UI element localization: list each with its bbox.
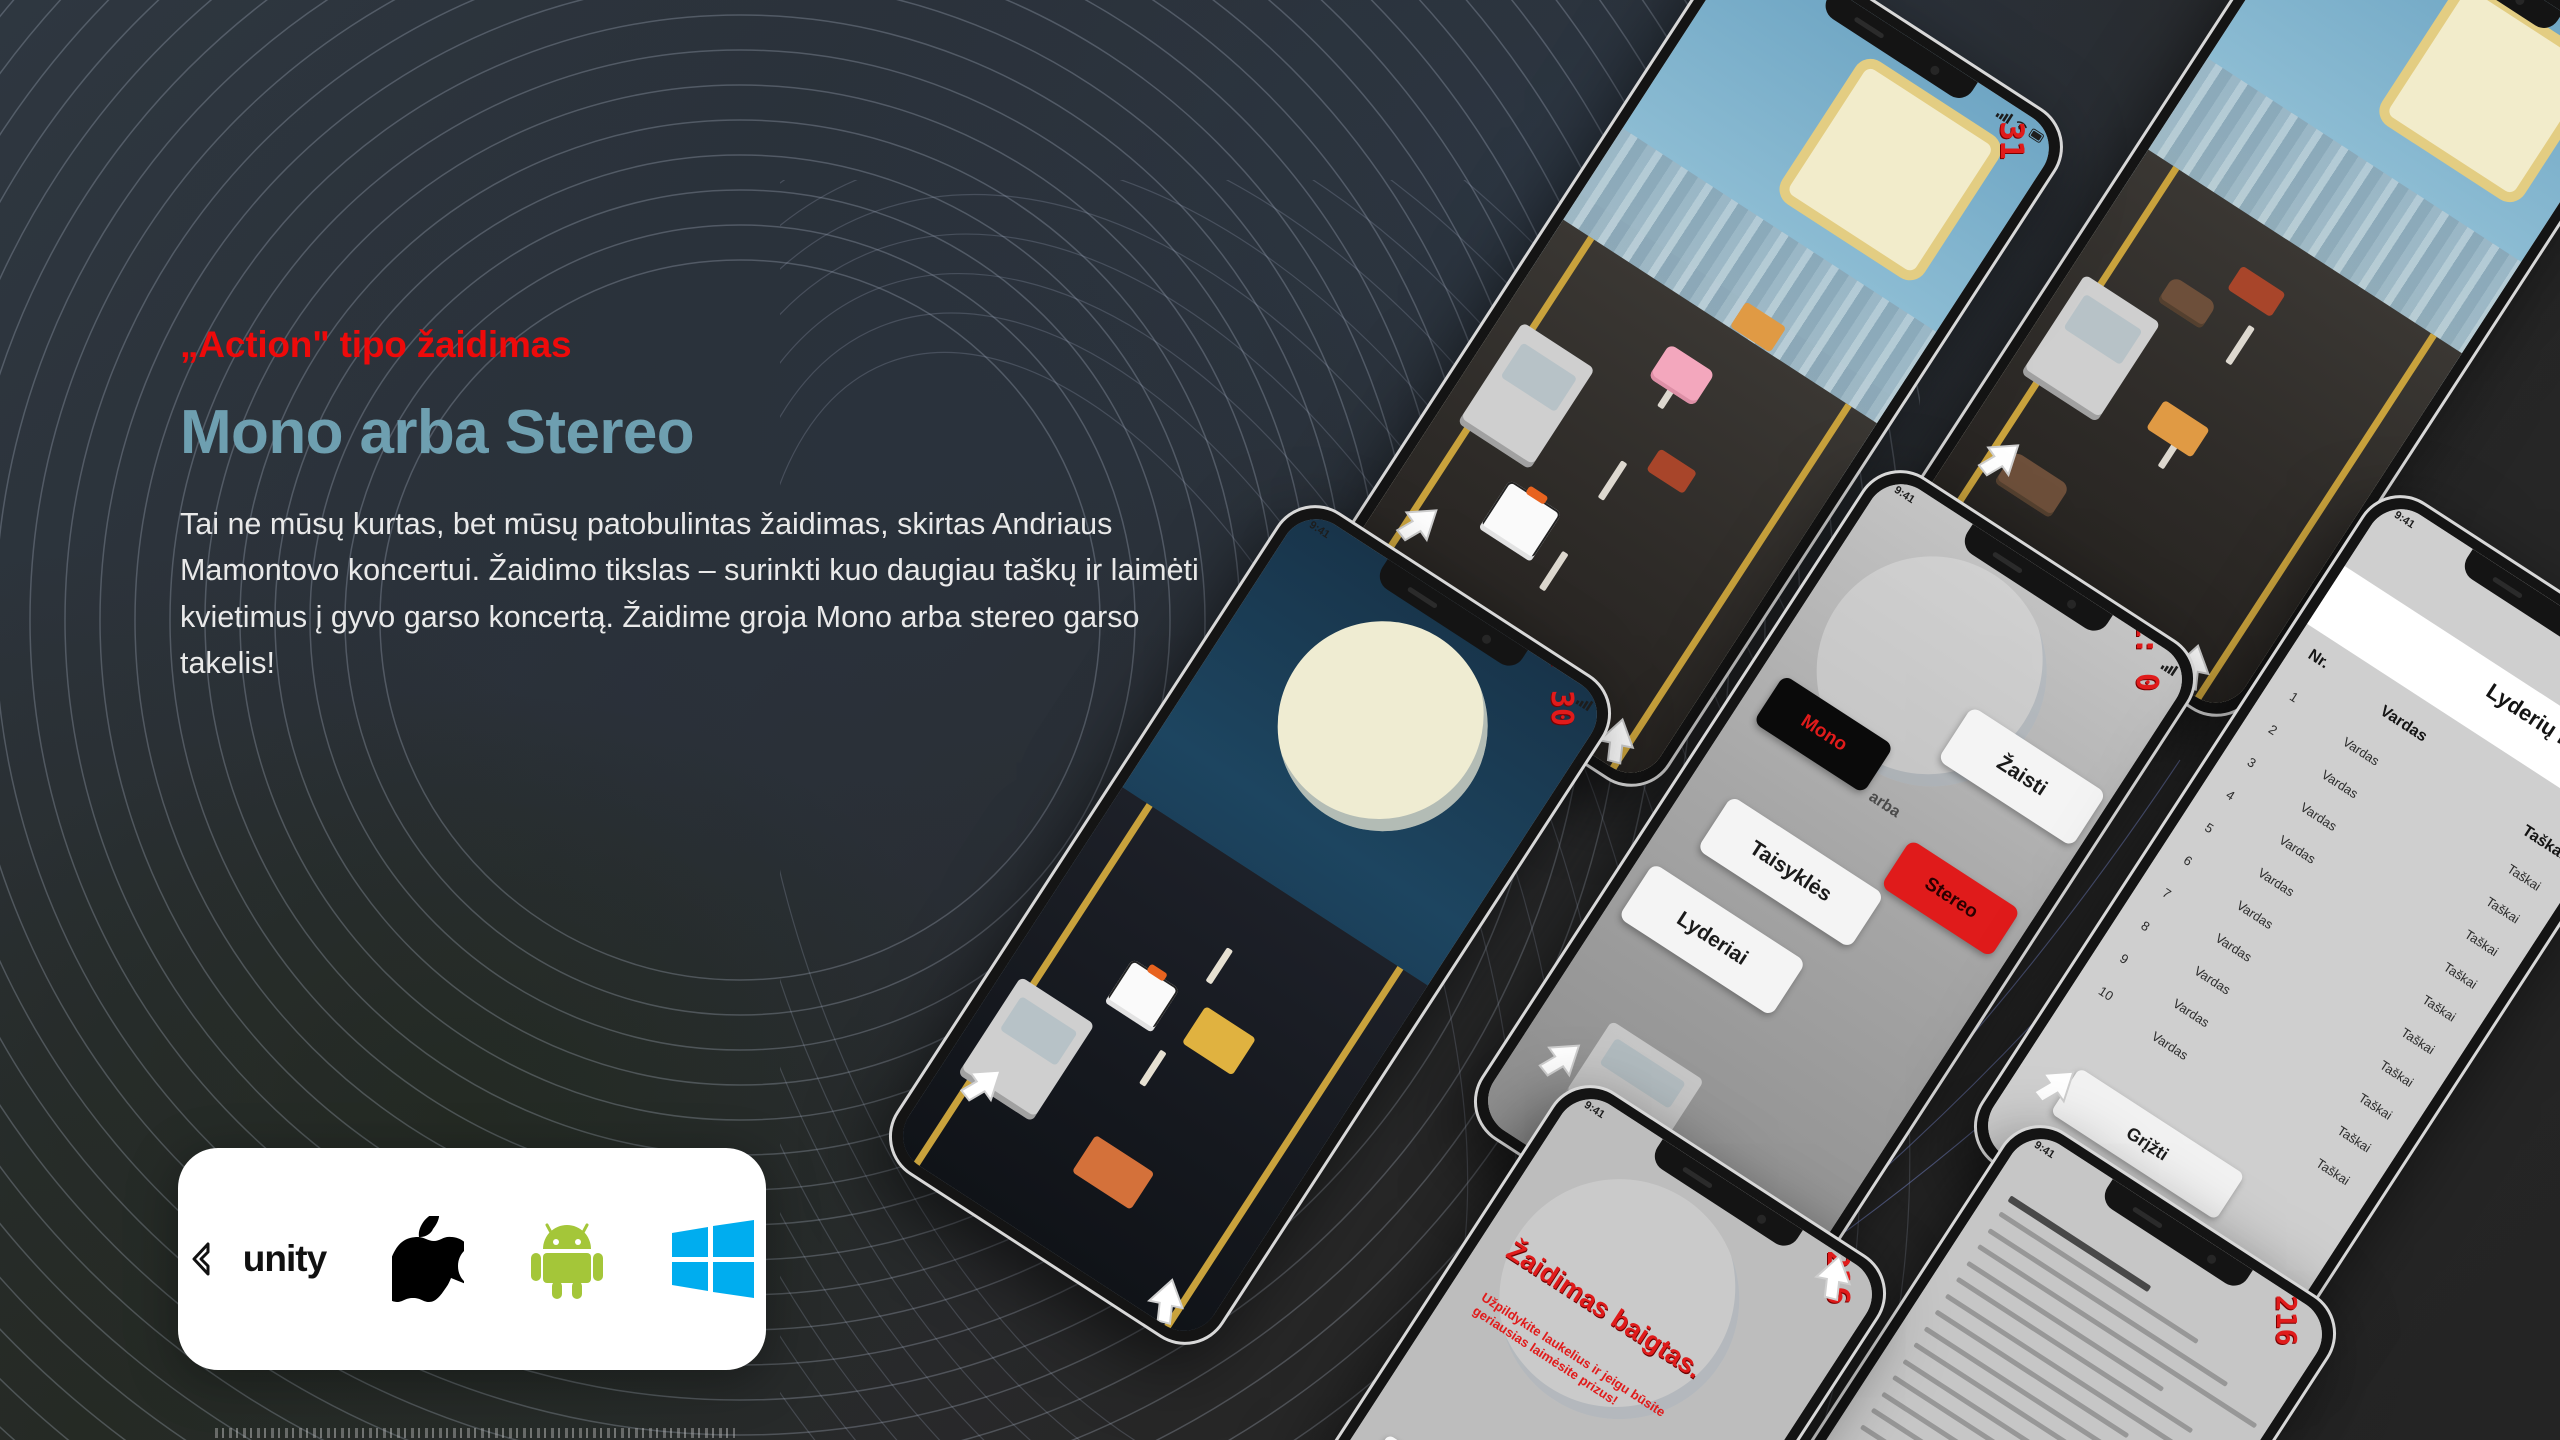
hero-copy-block: „Action" tipo žaidimas Mono arba Stereo …: [180, 325, 1240, 686]
leaderboard-row-nr: 8: [2139, 918, 2153, 935]
leaderboard-row-nr: 2: [2266, 721, 2280, 738]
leaderboard-row-score: Taškai: [2462, 926, 2501, 959]
leaderboard-row-name: Vardas: [2192, 963, 2234, 997]
eyebrow-text: „Action" tipo žaidimas: [180, 325, 1240, 366]
android-icon: [530, 1219, 604, 1299]
mono-label: Mono: [1796, 711, 1850, 757]
play-button-label: Žaisti: [1992, 751, 2051, 801]
leaderboard-row-score: Taškai: [2505, 861, 2544, 894]
leaderboard-row-name: Vardas: [2319, 767, 2361, 801]
leaderboard-row-name: Vardas: [2340, 734, 2382, 768]
leaderboard-row-nr: 9: [2117, 950, 2131, 967]
column-header-taskai: Taškai: [2519, 822, 2560, 864]
status-time: 9:41: [1582, 1099, 1607, 1121]
bottom-clipped-text: [215, 1428, 735, 1438]
leaderboard-row-score: Taškai: [2314, 1155, 2353, 1188]
rules-text-line: [1956, 1277, 2194, 1434]
apple-logo: [392, 1216, 464, 1302]
android-logo: [530, 1219, 604, 1299]
leaderboard-row-name: Vardas: [2213, 930, 2255, 964]
leaderboard-row-name: Vardas: [2276, 832, 2318, 866]
status-time: 9:41: [2032, 1139, 2057, 1161]
leaderboard-row-score: Taškai: [2398, 1024, 2437, 1057]
leaderboard-row-score: Taškai: [2377, 1057, 2416, 1090]
column-header-vardas: Vardas: [2376, 702, 2430, 746]
leaderboard-row-score: Taškai: [2420, 992, 2459, 1025]
platform-badges-card: unity: [178, 1148, 766, 1370]
email-field[interactable]: El. pašto adresas: [1359, 1435, 1632, 1440]
unity-icon: [188, 1236, 234, 1282]
leaderboard-row-score: Taškai: [2441, 959, 2480, 992]
windows-icon: [670, 1219, 756, 1299]
unity-wordmark: unity: [243, 1238, 326, 1280]
leaderboard-row-nr: 3: [2245, 754, 2259, 771]
unity-logo: unity: [188, 1236, 326, 1282]
stereo-label: Stereo: [1920, 873, 1982, 924]
promo-slide: 9:41: [0, 0, 2560, 1440]
leaderboard-row-nr: 6: [2181, 852, 2195, 869]
leaderboard-row-nr: 4: [2223, 787, 2237, 804]
leaderboard-row-score: Taškai: [2356, 1090, 2395, 1123]
leaderboard-row-score: Taškai: [2335, 1122, 2374, 1155]
apple-icon: [392, 1216, 464, 1302]
status-time: 9:41: [1307, 519, 1332, 541]
leaderboard-row-name: Vardas: [2170, 996, 2212, 1030]
back-button-label: Grįžti: [2122, 1123, 2172, 1166]
leaderboard-row-nr: 10: [2096, 983, 2116, 1003]
leaderboard-row-nr: 5: [2202, 819, 2216, 836]
leaderboard-row-name: Vardas: [2234, 898, 2276, 932]
leaderboard-row-name: Vardas: [2255, 865, 2297, 899]
leaderboard-row-score: Taškai: [2483, 894, 2522, 927]
page-title: Mono arba Stereo: [180, 400, 1240, 465]
leaderboard-row-name: Vardas: [2298, 799, 2340, 833]
status-time: 9:41: [2392, 509, 2417, 531]
status-time: 9:41: [1892, 484, 1917, 506]
hero-description: Tai ne mūsų kurtas, bet mūsų patobulinta…: [180, 501, 1200, 686]
windows-logo: [670, 1219, 756, 1299]
leaderboard-row-nr: 7: [2160, 885, 2174, 902]
column-header-nr: Nr.: [2304, 646, 2332, 673]
leaderboard-row-nr: 1: [2287, 689, 2301, 706]
leaderboard-row-name: Vardas: [2149, 1028, 2191, 1062]
